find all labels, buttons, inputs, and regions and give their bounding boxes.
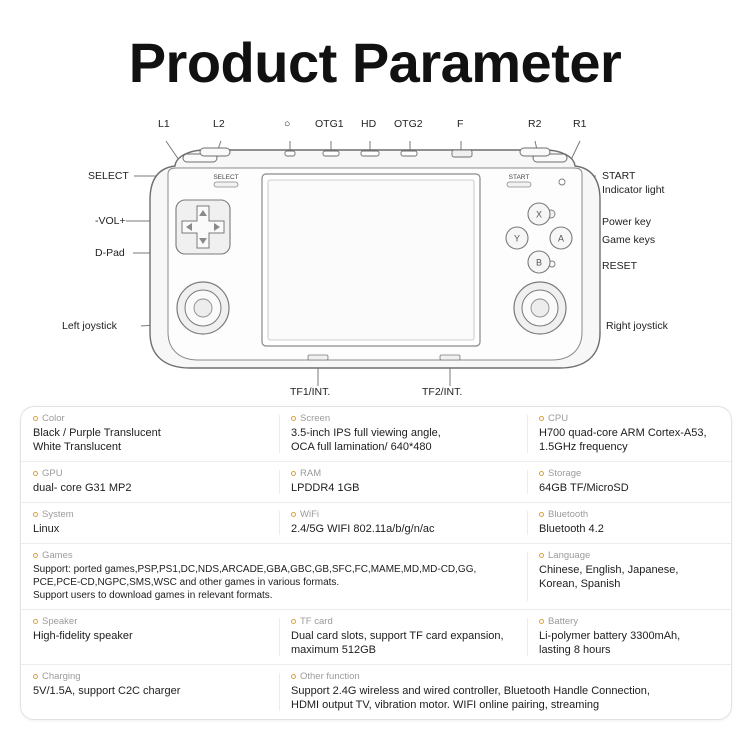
spec-cell-battery: BatteryLi-polymer battery 3300mAh,lastin… [527, 610, 729, 664]
device-button-a: A [558, 234, 564, 244]
bullet-icon [291, 674, 296, 679]
cell-divider [527, 618, 528, 656]
spec-cell-gpu: GPUdual- core G31 MP2 [21, 462, 279, 502]
spec-cell-system: SystemLinux [21, 503, 279, 543]
callout-f: F [457, 118, 463, 130]
cell-divider [279, 673, 280, 711]
spec-value: Chinese, English, Japanese,Korean, Spani… [539, 563, 719, 591]
headphone-jack-icon: ○ [284, 118, 290, 130]
spec-cell-color: ColorBlack / Purple TranslucentWhite Tra… [21, 407, 279, 461]
spec-label-text: WiFi [300, 509, 319, 520]
cell-divider [279, 415, 280, 453]
spec-label: TF card [291, 616, 517, 627]
spec-cell-tf-card: TF cardDual card slots, support TF card … [279, 610, 527, 664]
bullet-icon [539, 619, 544, 624]
spec-label-text: Bluetooth [548, 509, 588, 520]
bullet-icon [33, 471, 38, 476]
spec-label-text: Language [548, 550, 590, 561]
spec-table: ColorBlack / Purple TranslucentWhite Tra… [20, 406, 732, 720]
spec-cell-bluetooth: BluetoothBluetooth 4.2 [527, 503, 729, 543]
spec-value: Bluetooth 4.2 [539, 522, 719, 536]
bullet-icon [291, 416, 296, 421]
device-button-b: B [536, 258, 542, 268]
spec-cell-language: LanguageChinese, English, Japanese,Korea… [527, 544, 729, 609]
bullet-icon [33, 553, 38, 558]
spec-cell-charging: Charging5V/1.5A, support C2C charger [21, 665, 279, 719]
spec-label: WiFi [291, 509, 517, 520]
spec-value: Black / Purple TranslucentWhite Transluc… [33, 426, 269, 454]
bullet-icon [539, 553, 544, 558]
device-start-label: START [509, 174, 530, 181]
spec-cell-cpu: CPUH700 quad-core ARM Cortex-A53,1.5GHz … [527, 407, 729, 461]
callout-left-joystick: Left joystick [62, 320, 117, 332]
spec-row: SystemLinuxWiFi2.4/5G WIFI 802.11a/b/g/n… [21, 503, 731, 544]
spec-label-text: TF card [300, 616, 333, 627]
callout-indicator: Indicator light [602, 184, 664, 196]
spec-label-text: Speaker [42, 616, 77, 627]
bullet-icon [291, 619, 296, 624]
bullet-icon [539, 512, 544, 517]
callout-power-key: Power key [602, 216, 651, 228]
product-parameter-page: Product Parameter [0, 0, 750, 750]
spec-label: RAM [291, 468, 517, 479]
bullet-icon [539, 471, 544, 476]
callout-right-joystick: Right joystick [606, 320, 668, 332]
spec-label: Other function [291, 671, 719, 682]
cell-divider [527, 511, 528, 535]
spec-label: CPU [539, 413, 719, 424]
spec-label-text: CPU [548, 413, 568, 424]
callout-tf2: TF2/INT. [422, 386, 462, 398]
callout-otg1: OTG1 [315, 118, 344, 130]
spec-value: dual- core G31 MP2 [33, 481, 269, 495]
callout-l1: L1 [158, 118, 170, 130]
spec-label-text: Other function [300, 671, 360, 682]
spec-label: Bluetooth [539, 509, 719, 520]
spec-cell-storage: Storage64GB TF/MicroSD [527, 462, 729, 502]
spec-value: Support: ported games,PSP,PS1,DC,NDS,ARC… [33, 563, 517, 602]
spec-label-text: Charging [42, 671, 81, 682]
cell-divider [279, 470, 280, 494]
spec-label-text: Color [42, 413, 65, 424]
device-button-y: Y [514, 234, 520, 244]
spec-cell-screen: Screen3.5-inch IPS full viewing angle,OC… [279, 407, 527, 461]
spec-value: H700 quad-core ARM Cortex-A53,1.5GHz fre… [539, 426, 719, 454]
spec-value: Li-polymer battery 3300mAh,lasting 8 hou… [539, 629, 719, 657]
spec-value: 64GB TF/MicroSD [539, 481, 719, 495]
page-title: Product Parameter [0, 30, 750, 95]
callout-reset: RESET [602, 260, 637, 272]
spec-row: Charging5V/1.5A, support C2C chargerOthe… [21, 665, 731, 719]
cell-divider [279, 618, 280, 656]
spec-value: High-fidelity speaker [33, 629, 269, 643]
spec-label-text: Screen [300, 413, 330, 424]
spec-cell-wifi: WiFi2.4/5G WIFI 802.11a/b/g/n/ac [279, 503, 527, 543]
spec-value: 3.5-inch IPS full viewing angle,OCA full… [291, 426, 517, 454]
spec-row: GamesSupport: ported games,PSP,PS1,DC,ND… [21, 544, 731, 610]
cell-divider [527, 415, 528, 453]
spec-row: GPUdual- core G31 MP2RAMLPDDR4 1GBStorag… [21, 462, 731, 503]
device-select-label: SELECT [213, 174, 238, 181]
spec-label: Battery [539, 616, 719, 627]
device-button-x: X [536, 210, 542, 220]
cell-divider [527, 470, 528, 494]
cell-divider [527, 552, 528, 601]
spec-label: Color [33, 413, 269, 424]
spec-label-text: Storage [548, 468, 581, 479]
spec-cell-ram: RAMLPDDR4 1GB [279, 462, 527, 502]
spec-row: ColorBlack / Purple TranslucentWhite Tra… [21, 407, 731, 462]
spec-value: LPDDR4 1GB [291, 481, 517, 495]
callout-start: START [602, 170, 635, 182]
spec-label: GPU [33, 468, 269, 479]
spec-label: Games [33, 550, 517, 561]
spec-value: Support 2.4G wireless and wired controll… [291, 684, 719, 712]
bullet-icon [33, 512, 38, 517]
spec-value: Dual card slots, support TF card expansi… [291, 629, 517, 657]
spec-label-text: Games [42, 550, 73, 561]
spec-label: Storage [539, 468, 719, 479]
spec-cell-games: GamesSupport: ported games,PSP,PS1,DC,ND… [21, 544, 527, 609]
callout-otg2: OTG2 [394, 118, 423, 130]
bullet-icon [33, 619, 38, 624]
cell-divider [279, 511, 280, 535]
bullet-icon [33, 416, 38, 421]
callout-select: SELECT [88, 170, 129, 182]
spec-label: Speaker [33, 616, 269, 627]
spec-label-text: System [42, 509, 74, 520]
spec-label: Language [539, 550, 719, 561]
bullet-icon [291, 512, 296, 517]
spec-row: SpeakerHigh-fidelity speakerTF cardDual … [21, 610, 731, 665]
callout-r1: R1 [573, 118, 586, 130]
spec-label: Charging [33, 671, 269, 682]
spec-cell-other-function: Other functionSupport 2.4G wireless and … [279, 665, 729, 719]
spec-label: System [33, 509, 269, 520]
bullet-icon [33, 674, 38, 679]
callout-volume: -VOL+ [95, 215, 126, 227]
bullet-icon [291, 471, 296, 476]
callout-tf1: TF1/INT. [290, 386, 330, 398]
bullet-icon [539, 416, 544, 421]
spec-label: Screen [291, 413, 517, 424]
spec-label-text: RAM [300, 468, 321, 479]
callout-game-keys: Game keys [602, 234, 655, 246]
callout-hd: HD [361, 118, 376, 130]
spec-value: 2.4/5G WIFI 802.11a/b/g/n/ac [291, 522, 517, 536]
spec-label-text: Battery [548, 616, 578, 627]
callout-l2: L2 [213, 118, 225, 130]
spec-value: Linux [33, 522, 269, 536]
spec-cell-speaker: SpeakerHigh-fidelity speaker [21, 610, 279, 664]
spec-label-text: GPU [42, 468, 63, 479]
callout-r2: R2 [528, 118, 541, 130]
spec-value: 5V/1.5A, support C2C charger [33, 684, 269, 698]
device-diagram: SELECT START [0, 118, 750, 408]
callout-dpad: D-Pad [95, 247, 125, 259]
